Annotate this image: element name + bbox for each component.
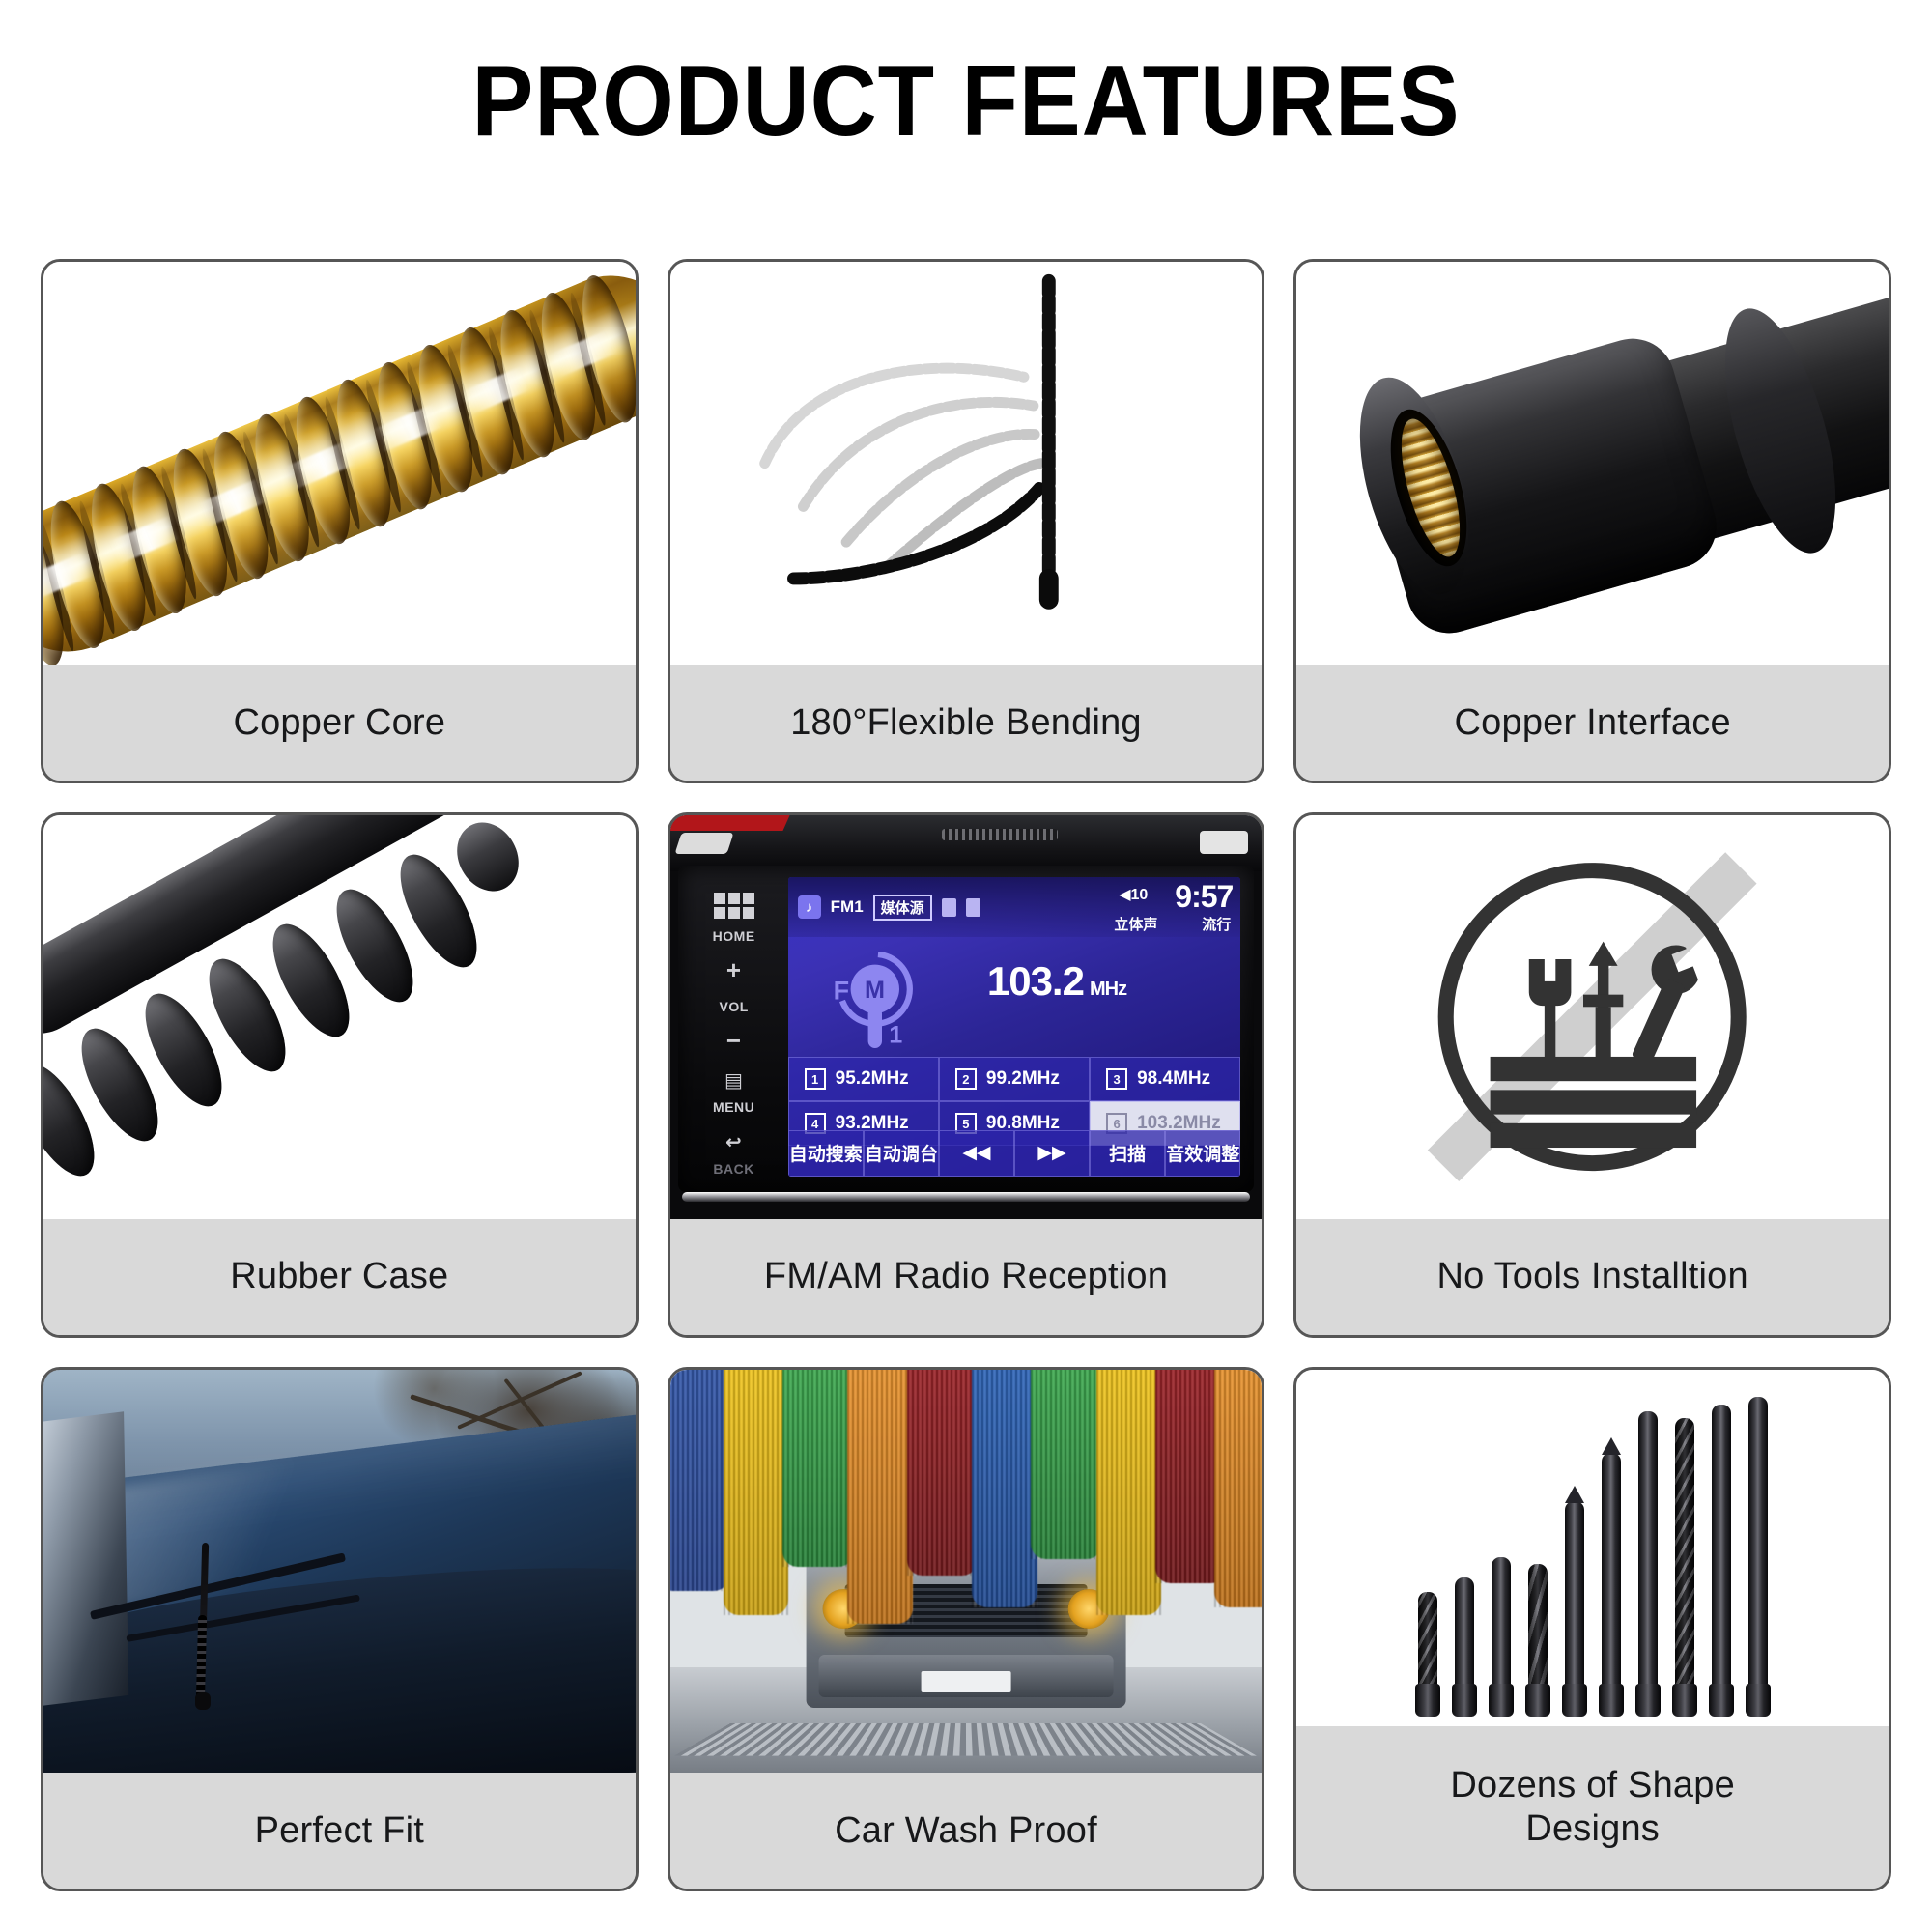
sound-settings-button[interactable]: 音效调整 [1165, 1130, 1240, 1177]
card-label-shape-designs-text: Dozens of Shape Designs [1450, 1764, 1735, 1851]
preset-button-2[interactable]: 299.2MHz [939, 1057, 1090, 1101]
head-unit-side-buttons[interactable]: HOME + VOL − ▤ MENU ↩ BACK [688, 879, 781, 1176]
car-wash-image [670, 1370, 1263, 1773]
feature-card-no-tools[interactable]: No Tools Installtion [1293, 812, 1891, 1337]
home-grid-icon[interactable] [714, 893, 754, 919]
feature-card-copper-core[interactable]: Copper Core [41, 259, 639, 783]
copper-interface-image [1296, 262, 1889, 665]
page-title: PRODUCT FEATURES [77, 46, 1855, 156]
gold-coil-spring-icon [43, 262, 636, 665]
feature-card-shape-designs[interactable]: Dozens of Shape Designs [1293, 1367, 1891, 1891]
dash-vent-icon [942, 829, 1058, 840]
card-label-copper-core: Copper Core [43, 665, 636, 781]
black-boot-brass-insert-icon [1296, 262, 1889, 665]
sd-card-icon [942, 898, 956, 917]
sd-card-icon-2 [966, 898, 980, 917]
feature-card-perfect-fit[interactable]: Perfect Fit [41, 1367, 639, 1891]
back-arrow-icon[interactable]: ↩ [725, 1134, 742, 1151]
fm-station-logo-icon: F 1 M [821, 952, 925, 1057]
svg-text:1: 1 [889, 1022, 902, 1049]
card-label-copper-interface: Copper Interface [1296, 665, 1889, 781]
rubber-case-image [43, 815, 636, 1218]
card-label-radio-reception: FM/AM Radio Reception [670, 1219, 1263, 1335]
no-tools-circle-icon [1350, 839, 1834, 1194]
side-button-vol[interactable]: VOL [720, 999, 749, 1014]
feature-card-copper-interface[interactable]: Copper Interface [1293, 259, 1891, 783]
volume-down-icon[interactable]: − [726, 1034, 742, 1049]
next-track-icon[interactable]: ▶▶ [1014, 1130, 1090, 1177]
stereo-indicator: 立体声 [1114, 914, 1157, 934]
volume-up-icon[interactable]: + [726, 961, 742, 979]
card-label-shape-designs: Dozens of Shape Designs [1296, 1726, 1889, 1889]
feature-card-flexible-bending[interactable]: 180°Flexible Bending [668, 259, 1265, 783]
bending-antenna-image [670, 262, 1263, 665]
card-label-rubber-case: Rubber Case [43, 1219, 636, 1335]
bending-arc-diagram-icon [670, 262, 1263, 665]
previous-track-icon[interactable]: ◀◀ [939, 1130, 1014, 1177]
side-button-home[interactable]: HOME [713, 928, 755, 944]
chrome-trim [682, 1192, 1251, 1202]
genre-indicator: 流行 [1202, 914, 1231, 934]
feature-card-grid: Copper Core [41, 259, 1891, 1891]
ribbed-rubber-antenna-icon [43, 815, 636, 1218]
perfect-fit-image [43, 1370, 636, 1773]
no-tools-image [1296, 815, 1889, 1218]
car-wash-brushes-photo [670, 1370, 1263, 1773]
card-label-no-tools: No Tools Installtion [1296, 1219, 1889, 1335]
scan-button[interactable]: 扫描 [1090, 1130, 1165, 1177]
preset-button-3[interactable]: 398.4MHz [1090, 1057, 1240, 1101]
head-unit-screen[interactable]: ♪ FM1 媒体源 ◀10 9:57 立体声 流行 F [788, 877, 1241, 1176]
card-label-car-wash-proof: Car Wash Proof [670, 1773, 1263, 1889]
copper-core-image [43, 262, 636, 665]
auto-search-button[interactable]: 自动搜索 [788, 1130, 864, 1177]
media-source-button[interactable]: 媒体源 [873, 895, 932, 921]
svg-text:F: F [833, 977, 849, 1006]
car-stereo-photo: HOME + VOL − ▤ MENU ↩ BACK ♪ FM1 媒体源 [670, 815, 1263, 1218]
radio-band-label: FM1 [831, 897, 864, 917]
svg-text:M: M [865, 977, 885, 1004]
card-label-perfect-fit: Perfect Fit [43, 1773, 636, 1889]
preset-button-1[interactable]: 195.2MHz [788, 1057, 939, 1101]
antenna-shape-array [1296, 1370, 1889, 1726]
auto-tune-button[interactable]: 自动调台 [864, 1130, 939, 1177]
car-windshield-photo [43, 1370, 636, 1773]
feature-card-car-wash-proof[interactable]: Car Wash Proof [668, 1367, 1265, 1891]
menu-windows-icon[interactable]: ▤ [724, 1072, 743, 1090]
car-head-unit-image: HOME + VOL − ▤ MENU ↩ BACK ♪ FM1 媒体源 [670, 815, 1263, 1218]
side-button-menu[interactable]: MENU [713, 1099, 754, 1115]
clock-display: 9:57 [1175, 879, 1233, 915]
shape-designs-image [1296, 1370, 1889, 1726]
current-frequency-display: 103.2MHz [987, 958, 1126, 1005]
volume-level-indicator: ◀10 [1119, 885, 1148, 904]
card-label-flexible-bending: 180°Flexible Bending [670, 665, 1263, 781]
music-note-icon: ♪ [798, 895, 821, 919]
feature-card-radio-reception[interactable]: HOME + VOL − ▤ MENU ↩ BACK ♪ FM1 媒体源 [668, 812, 1265, 1337]
radio-bottom-toolbar[interactable]: 自动搜索 自动调台 ◀◀ ▶▶ 扫描 音效调整 [788, 1130, 1241, 1177]
side-button-back[interactable]: BACK [713, 1161, 753, 1177]
feature-card-rubber-case[interactable]: Rubber Case [41, 812, 639, 1337]
